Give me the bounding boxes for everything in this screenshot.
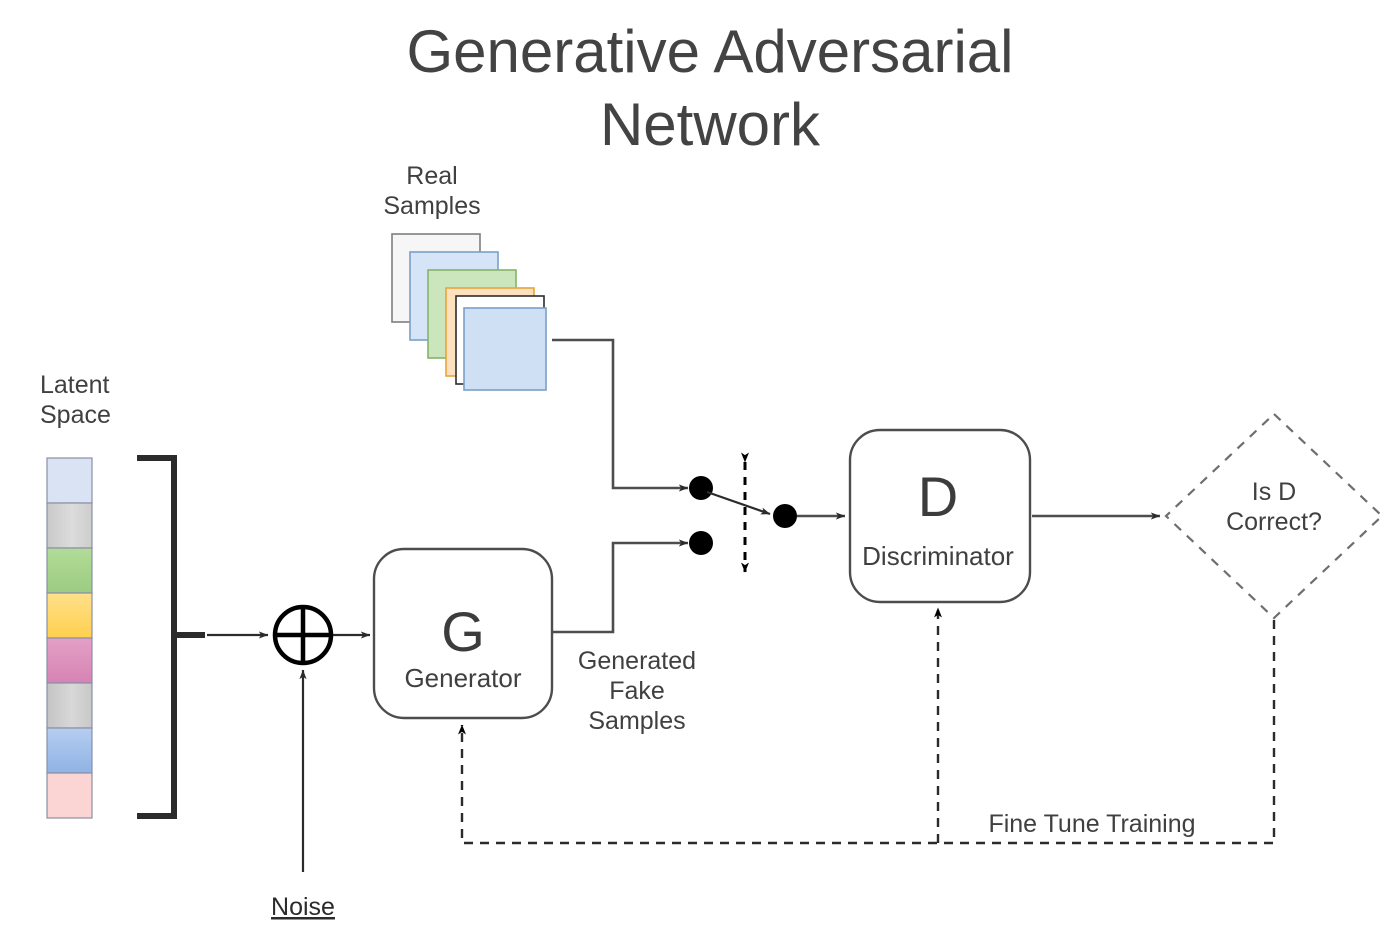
switch-blade[interactable] xyxy=(707,492,770,514)
switch-fake-terminal[interactable] xyxy=(689,531,713,555)
discriminator-label: Discriminator xyxy=(862,541,1014,571)
decision-node[interactable]: Is D Correct? xyxy=(1166,414,1382,618)
gan-architecture-diagram: Generative Adversarial Network Latent Sp… xyxy=(0,0,1400,940)
page-title-line2: Network xyxy=(600,91,821,158)
discriminator-letter: D xyxy=(918,465,958,528)
latent-cell-1 xyxy=(47,458,92,503)
latent-cell-5 xyxy=(47,638,92,683)
discriminator-node[interactable]: D Discriminator xyxy=(850,430,1030,602)
real-samples-label-line2: Samples xyxy=(383,192,480,220)
latent-space-label-line2: Space xyxy=(40,401,111,429)
generator-letter: G xyxy=(441,600,485,663)
generated-samples-label-line1: Generated xyxy=(578,647,696,675)
page-title-line1: Generative Adversarial xyxy=(407,18,1014,85)
latent-cell-6 xyxy=(47,683,92,728)
grouping-bracket-icon xyxy=(137,458,205,816)
fine-tune-training-label: Fine Tune Training xyxy=(988,810,1195,838)
noise-label: Noise xyxy=(271,893,335,921)
decision-label-line1: Is D xyxy=(1252,478,1296,506)
latent-space-vector xyxy=(47,458,92,818)
latent-space-label-line1: Latent xyxy=(40,371,110,399)
generated-samples-label-line3: Samples xyxy=(588,707,685,735)
real-sample-card-6 xyxy=(464,308,546,390)
generator-node[interactable]: G Generator xyxy=(374,549,552,718)
switch-real-terminal[interactable] xyxy=(689,476,713,500)
switch-pole[interactable] xyxy=(773,504,797,528)
decision-label-line2: Correct? xyxy=(1226,508,1322,536)
latent-cell-2 xyxy=(47,503,92,548)
generator-label: Generator xyxy=(404,663,521,693)
diagram-canvas: Generative Adversarial Network Latent Sp… xyxy=(0,0,1400,940)
latent-cell-3 xyxy=(47,548,92,593)
latent-cell-7 xyxy=(47,728,92,773)
edge-generator-to-switch xyxy=(552,543,688,632)
latent-cell-4 xyxy=(47,593,92,638)
edge-real-samples-to-switch xyxy=(552,340,688,488)
circled-plus-icon xyxy=(275,607,331,663)
generated-samples-label-line2: Fake xyxy=(609,677,665,705)
latent-cell-8 xyxy=(47,773,92,818)
real-samples-label-line1: Real xyxy=(406,162,457,190)
switch-toggle-icon[interactable] xyxy=(689,462,797,572)
real-samples-stack xyxy=(392,234,546,390)
